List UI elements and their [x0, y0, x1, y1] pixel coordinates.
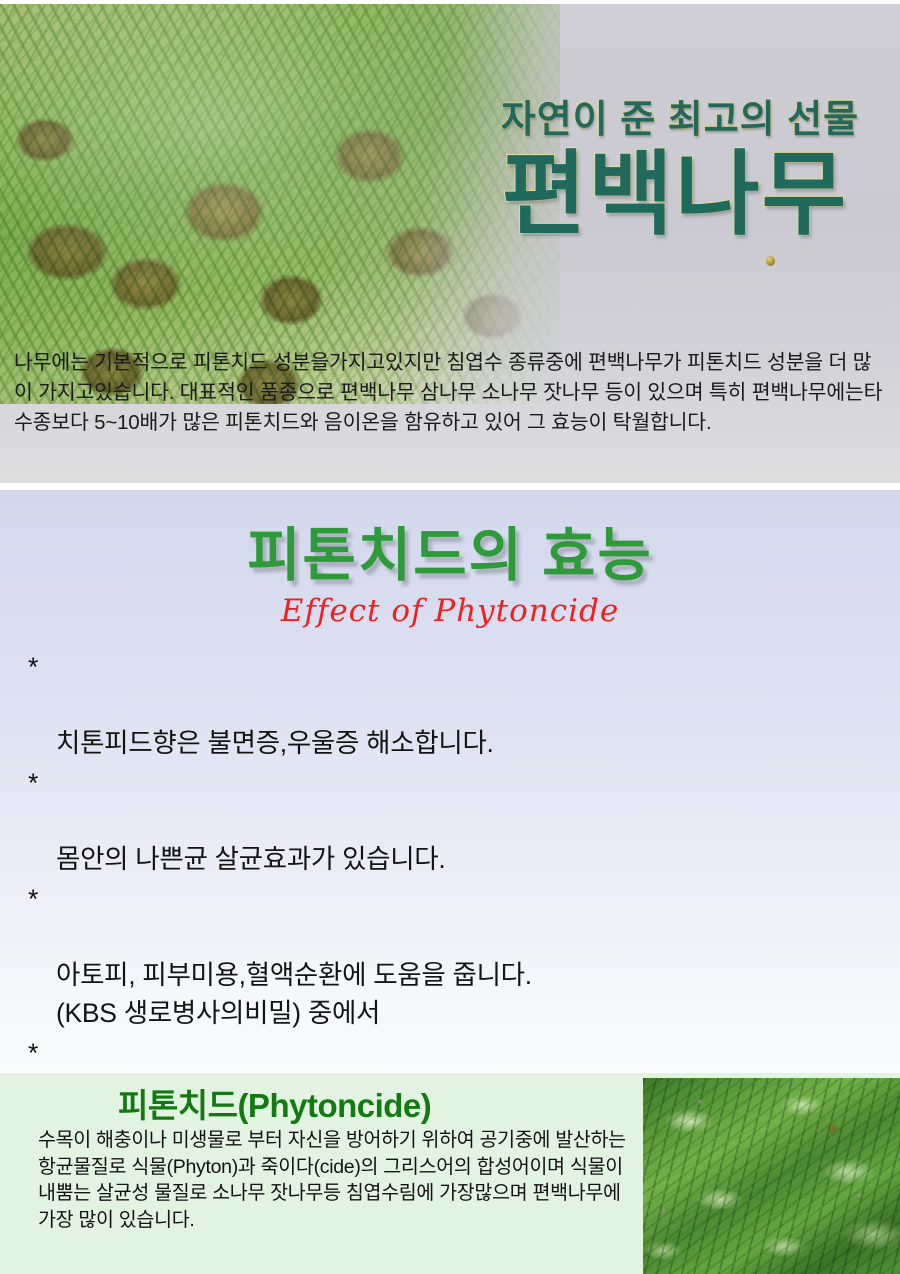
hero-tagline: 자연이 준 최고의 선물: [470, 88, 890, 143]
list-item: * 아토피, 피부미용,혈액순환에 도움을 줍니다. (KBS 생로병사의비밀)…: [28, 880, 878, 1032]
cypress-foliage-photo: [643, 1078, 900, 1274]
foliage-detail-layer: [643, 1078, 900, 1274]
list-item: * 실내공기를 정화하며 불쾌한 냄새를 분해 합니다.: [28, 1034, 878, 1073]
hero-description: 나무에는 기본적으로 피톤치드 성분을가지고있지만 침엽수 종류중에 편백나무가…: [14, 348, 888, 438]
effects-subtitle: Effect of Phytoncide: [0, 593, 900, 629]
list-item-label: 몸안의 나쁜균 살균효과가 있습니다.: [56, 844, 445, 874]
promo-page: 자연이 준 최고의 선물 편백나무 나무에는 기본적으로 피톤치드 성분을가지고…: [0, 0, 900, 1274]
definition-section: 피톤치드(Phytoncide) 수목이 해충이나 미생물로 부터 자신을 방어…: [0, 1073, 900, 1274]
definition-heading: 피톤치드(Phytoncide): [118, 1079, 431, 1127]
effects-list: * 치톤피드향은 불면증,우울증 해소합니다. * 몸안의 나쁜균 살균효과가 …: [28, 648, 878, 1073]
effects-title: 피톤치드의 효능: [0, 508, 900, 592]
bullet-star-icon: *: [28, 648, 38, 686]
hero-section: 자연이 준 최고의 선물 편백나무 나무에는 기본적으로 피톤치드 성분을가지고…: [0, 4, 900, 483]
list-item-label: 아토피, 피부미용,혈액순환에 도움을 줍니다. (KBS 생로병사의비밀) 중…: [56, 960, 532, 1028]
hero-description-text: 나무에는 기본적으로 피톤치드 성분을가지고있지만 침엽수 종류중에 편백나무가…: [14, 348, 888, 438]
hero-title: 편백나무: [450, 149, 900, 241]
definition-body: 수목이 해충이나 미생물로 부터 자신을 방어하기 위하여 공기중에 발산하는 …: [38, 1127, 638, 1233]
bullet-star-icon: *: [28, 764, 38, 802]
list-item-label: 치톤피드향은 불면증,우울증 해소합니다.: [56, 728, 494, 758]
list-item: * 몸안의 나쁜균 살균효과가 있습니다.: [28, 764, 878, 878]
bullet-star-icon: *: [28, 1034, 38, 1072]
bullet-star-icon: *: [28, 880, 38, 918]
definition-body-text: 수목이 해충이나 미생물로 부터 자신을 방어하기 위하여 공기중에 발산하는 …: [38, 1127, 638, 1233]
gold-dot-ornament: [766, 256, 775, 266]
list-item: * 치톤피드향은 불면증,우울증 해소합니다.: [28, 648, 878, 762]
effects-section: 피톤치드의 효능 Effect of Phytoncide * 치톤피드향은 불…: [0, 490, 900, 1073]
